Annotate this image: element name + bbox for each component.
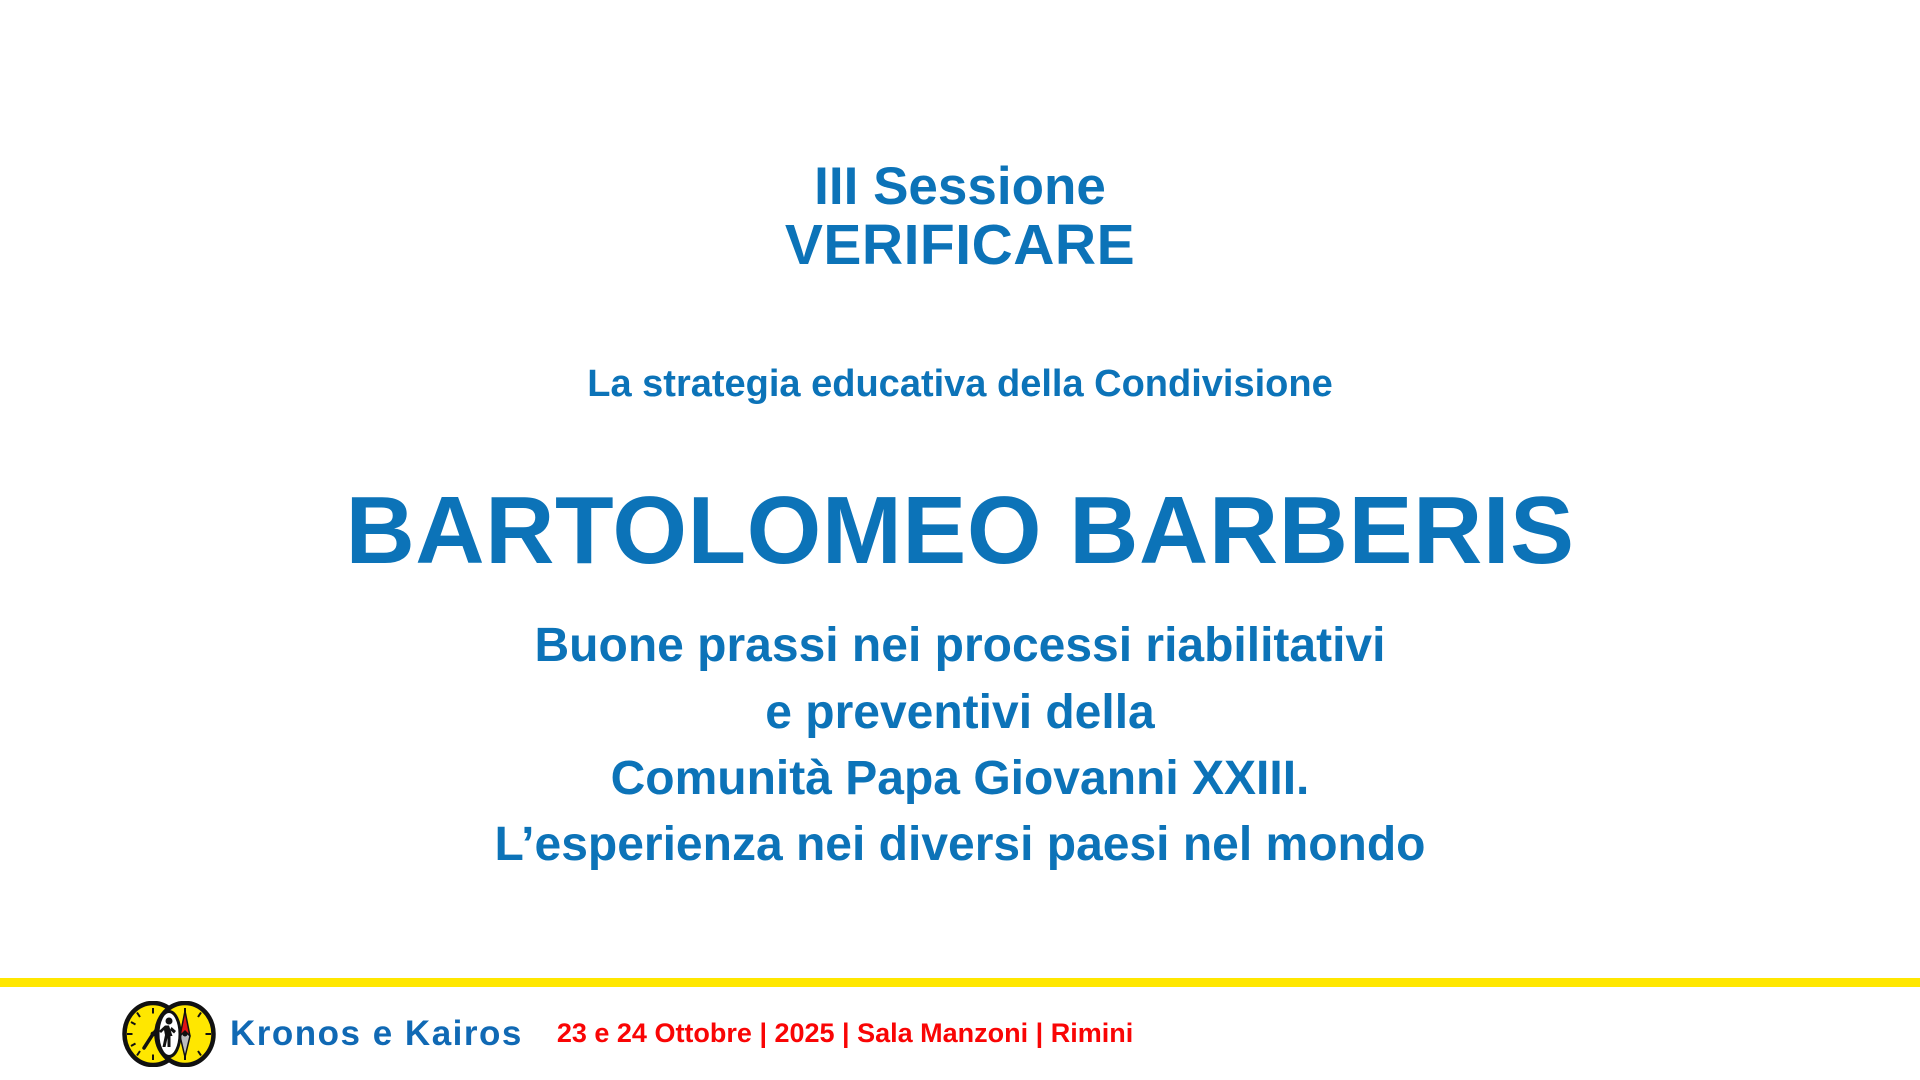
- kronos-kairos-clock-compass-logo: [122, 1001, 216, 1067]
- talk-title-line: Buone prassi nei processi riabilitativi: [495, 613, 1426, 679]
- session-heading: III Sessione VERIFICARE: [785, 158, 1135, 277]
- presentation-slide: III Sessione VERIFICARE La strategia edu…: [0, 0, 1920, 1080]
- event-details: 23 e 24 Ottobre | 2025 | Sala Manzoni | …: [557, 1018, 1133, 1049]
- speaker-name: BARTOLOMEO BARBERIS: [345, 481, 1574, 582]
- slide-content: III Sessione VERIFICARE La strategia edu…: [0, 0, 1920, 978]
- strategy-subtitle: La strategia educativa della Condivision…: [587, 364, 1332, 406]
- talk-title: Buone prassi nei processi riabilitativi …: [495, 613, 1426, 878]
- session-number: III Sessione: [785, 158, 1135, 215]
- talk-title-line: L’esperienza nei diversi paesi nel mondo: [495, 812, 1426, 878]
- talk-title-line: e preventivi della: [495, 680, 1426, 746]
- brand-title: Kronos e Kairos: [230, 1014, 523, 1054]
- talk-title-line: Comunità Papa Giovanni XXIII.: [495, 746, 1426, 812]
- session-name: VERIFICARE: [785, 215, 1135, 277]
- slide-footer: Kronos e Kairos 23 e 24 Ottobre | 2025 |…: [0, 987, 1920, 1080]
- yellow-divider: [0, 978, 1920, 987]
